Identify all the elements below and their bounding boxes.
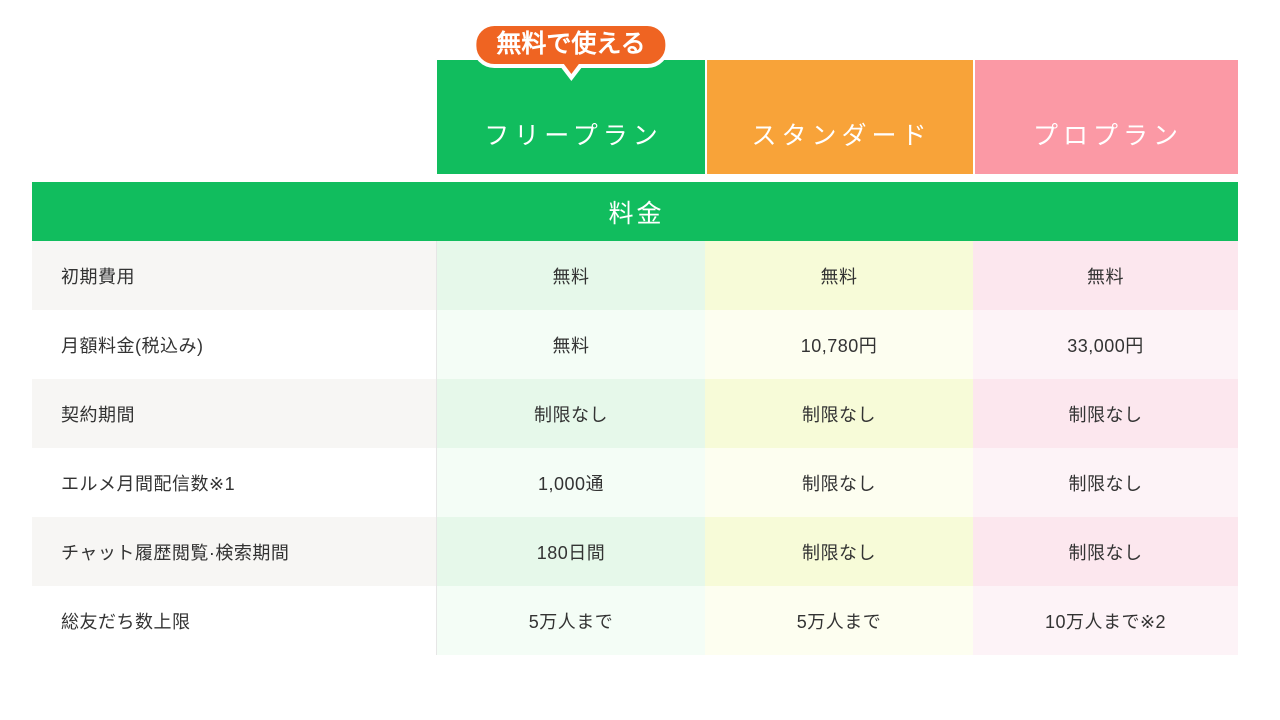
plan-header-label-pro: プロプラン — [1028, 116, 1183, 152]
pricing-table: 無料で使える フリープラン スタンダード プロプラン 料金 初期費用 無料 無料… — [32, 60, 1238, 655]
cell-standard: 制限なし — [705, 379, 973, 448]
plan-header-pro[interactable]: プロプラン — [973, 60, 1238, 174]
row-label: 総友だち数上限 — [32, 586, 437, 655]
cell-free: 1,000通 — [437, 448, 705, 517]
table-row: チャット履歴閲覧·検索期間 180日間 制限なし 制限なし — [32, 517, 1238, 586]
plan-header-free[interactable]: 無料で使える フリープラン — [437, 60, 705, 174]
cell-free: 5万人まで — [437, 586, 705, 655]
table-row: 総友だち数上限 5万人まで 5万人まで 10万人まで※2 — [32, 586, 1238, 655]
row-label: チャット履歴閲覧·検索期間 — [32, 517, 437, 586]
cell-pro: 制限なし — [973, 448, 1238, 517]
plan-header-label-standard: スタンダード — [746, 116, 931, 152]
section-band-title: 料金 — [605, 194, 664, 230]
cell-standard: 5万人まで — [705, 586, 973, 655]
row-label: エルメ月間配信数※1 — [32, 448, 437, 517]
cell-standard: 制限なし — [705, 448, 973, 517]
plan-header-standard[interactable]: スタンダード — [705, 60, 973, 174]
cell-pro: 無料 — [973, 241, 1238, 310]
cell-standard: 制限なし — [705, 517, 973, 586]
pricing-comparison-page: 無料で使える フリープラン スタンダード プロプラン 料金 初期費用 無料 無料… — [0, 0, 1280, 720]
cell-pro: 制限なし — [973, 379, 1238, 448]
table-row: 月額料金(税込み) 無料 10,780円 33,000円 — [32, 310, 1238, 379]
row-label: 月額料金(税込み) — [32, 310, 437, 379]
cell-pro: 制限なし — [973, 517, 1238, 586]
cell-free: 無料 — [437, 241, 705, 310]
free-badge-label: 無料で使える — [496, 30, 645, 58]
free-badge: 無料で使える — [472, 22, 669, 68]
plan-header-label-free: フリープラン — [479, 116, 663, 152]
cell-free: 制限なし — [437, 379, 705, 448]
section-band-pricing: 料金 — [32, 182, 1238, 241]
cell-free: 180日間 — [437, 517, 705, 586]
cell-standard: 10,780円 — [705, 310, 973, 379]
cell-standard: 無料 — [705, 241, 973, 310]
row-label: 契約期間 — [32, 379, 437, 448]
row-label: 初期費用 — [32, 241, 437, 310]
cell-pro: 10万人まで※2 — [973, 586, 1238, 655]
cell-pro: 33,000円 — [973, 310, 1238, 379]
table-row: 初期費用 無料 無料 無料 — [32, 241, 1238, 310]
table-row: エルメ月間配信数※1 1,000通 制限なし 制限なし — [32, 448, 1238, 517]
cell-free: 無料 — [437, 310, 705, 379]
plan-header-row: 無料で使える フリープラン スタンダード プロプラン — [437, 60, 1238, 174]
table-row: 契約期間 制限なし 制限なし 制限なし — [32, 379, 1238, 448]
